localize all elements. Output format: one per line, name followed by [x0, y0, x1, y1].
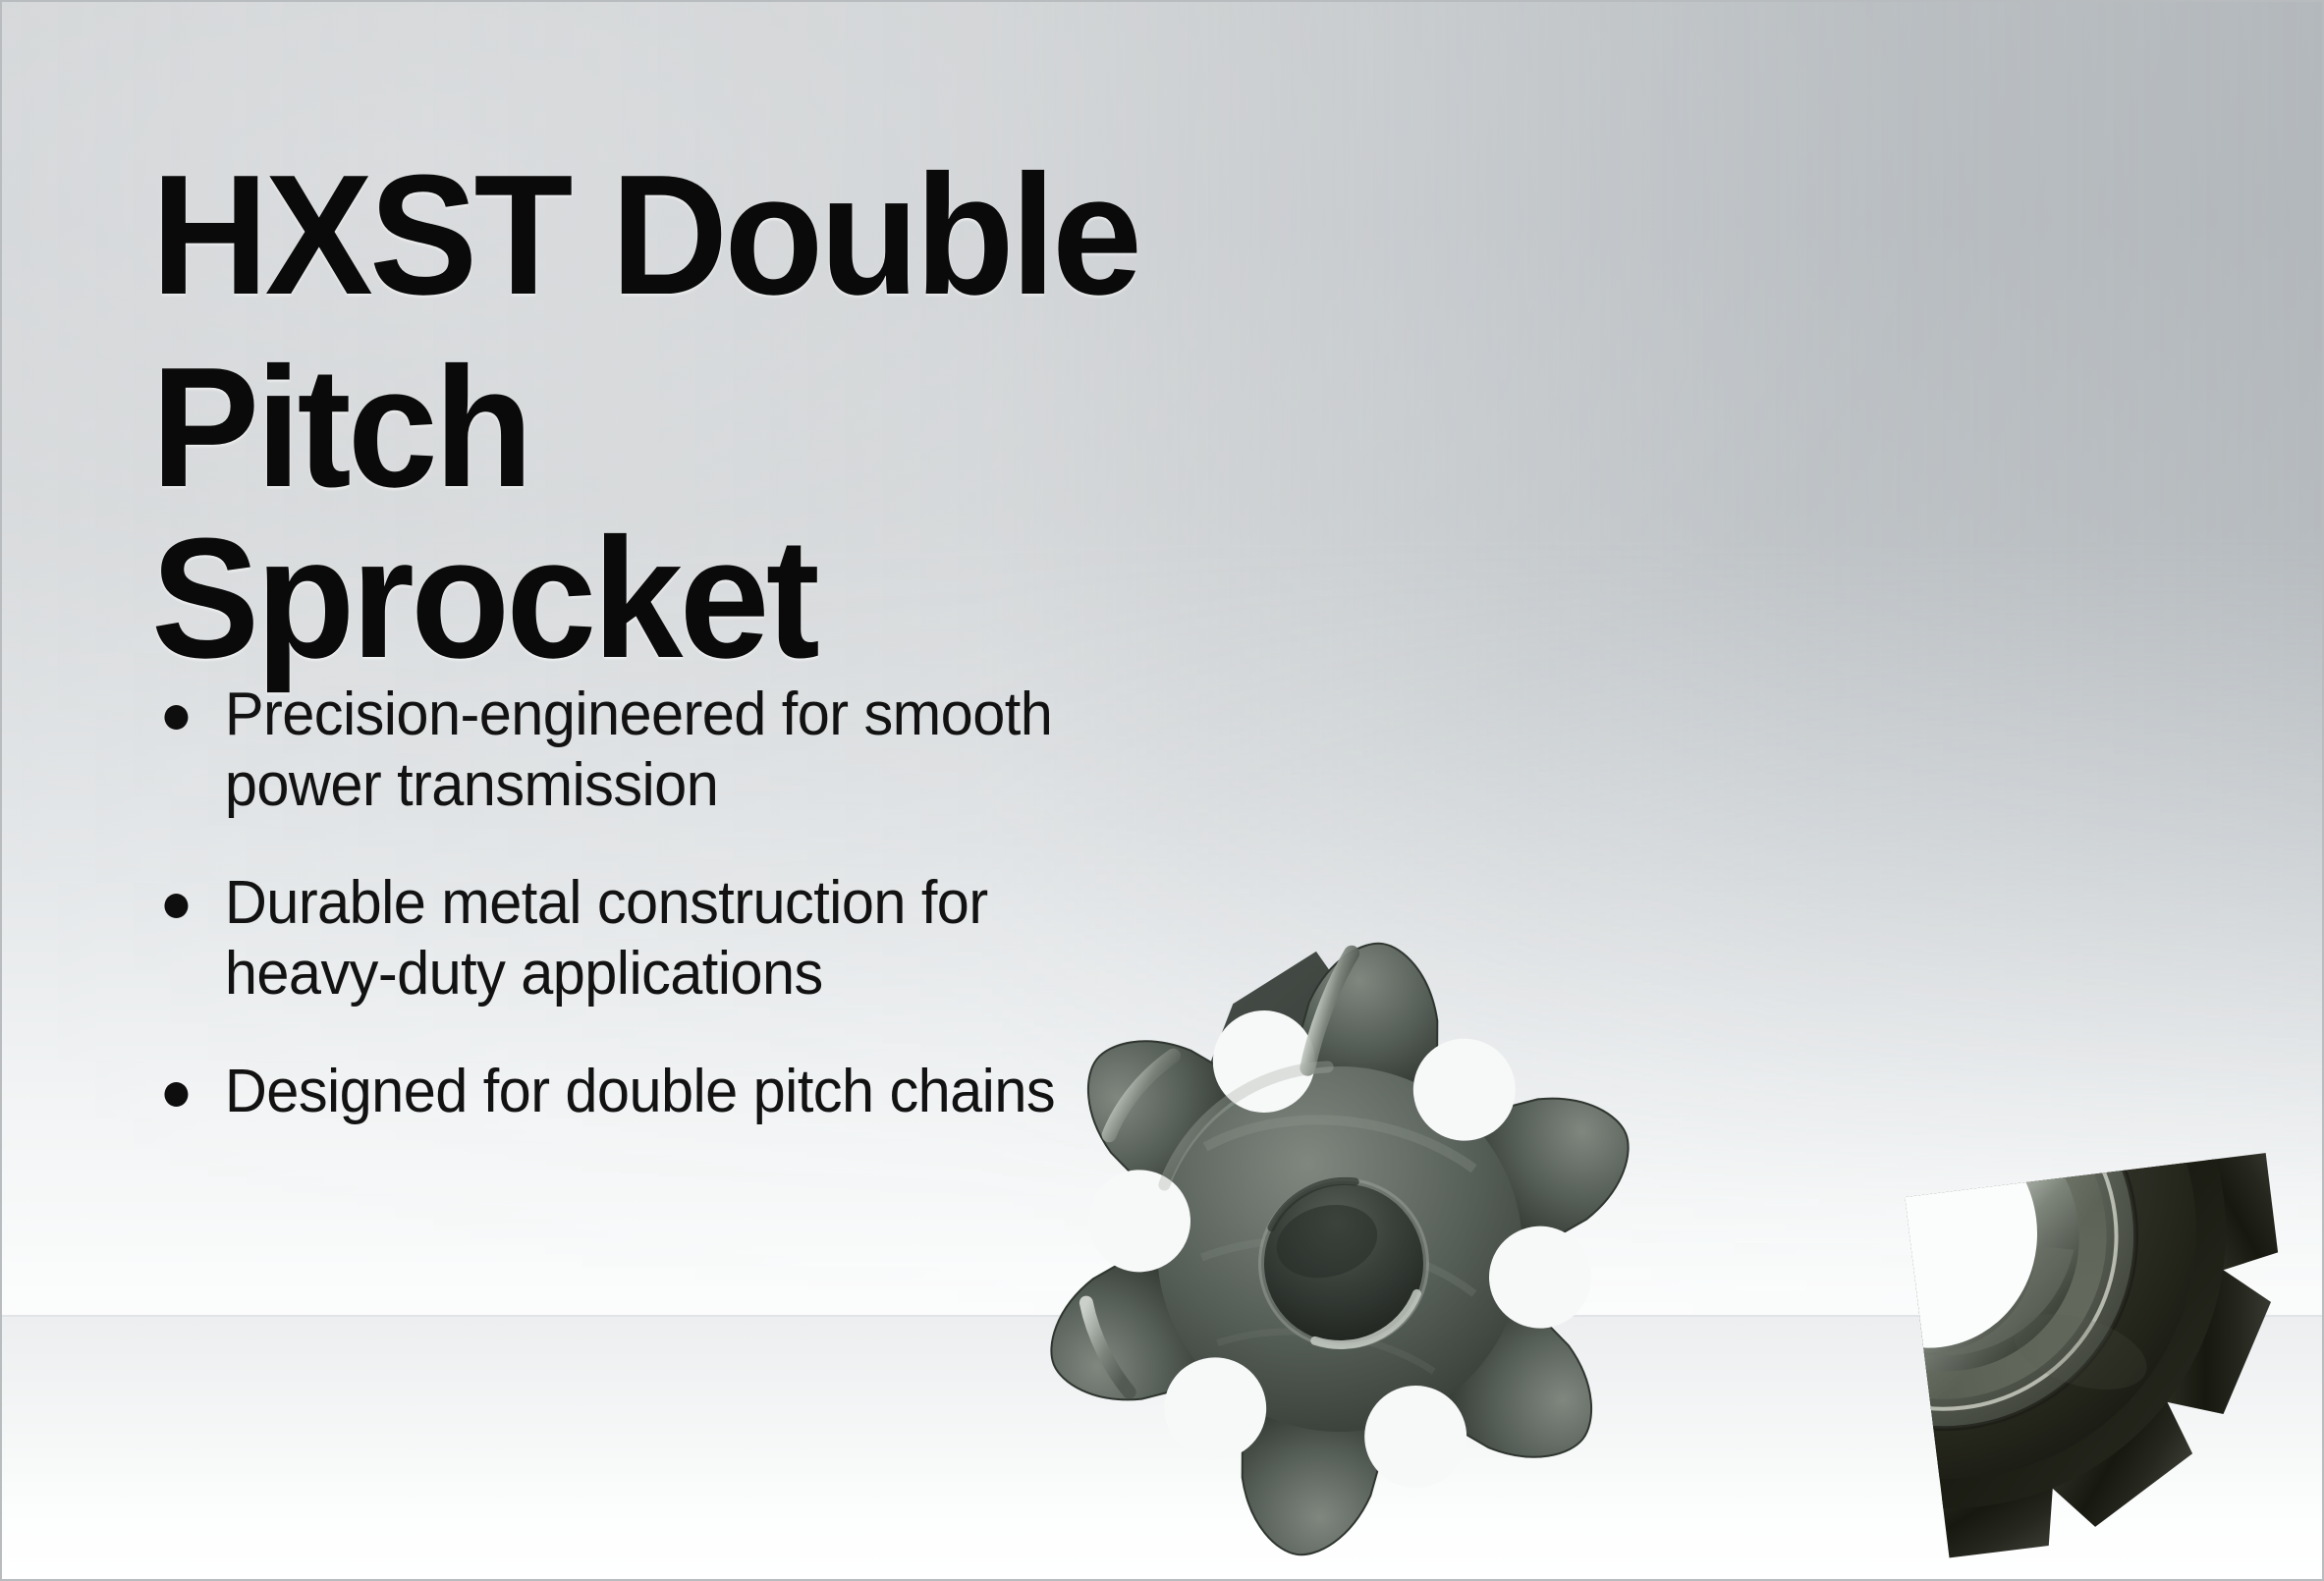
- page-title-line-1: HXST Double: [151, 149, 1196, 320]
- bullet-dot-icon: [164, 1082, 188, 1107]
- feature-text: Precision-engineered for smooth power tr…: [225, 680, 1113, 821]
- product-banner: HXST Double Pitch Sprocket Precision-eng…: [0, 0, 2324, 1581]
- list-item: Precision-engineered for smooth power tr…: [151, 680, 1113, 821]
- bullet-dot-icon: [164, 705, 188, 730]
- page-title: HXST Double Pitch Sprocket: [151, 149, 1196, 683]
- feature-text: Durable metal construction for heavy-dut…: [225, 868, 1113, 1009]
- list-item: Durable metal construction for heavy-dut…: [151, 868, 1113, 1009]
- text-column: HXST Double Pitch Sprocket Precision-eng…: [2, 2, 1259, 1579]
- feature-text: Designed for double pitch chains: [225, 1057, 1113, 1127]
- black-oxide-sprocket-image: [1603, 915, 2324, 1581]
- list-item: Designed for double pitch chains: [151, 1057, 1113, 1127]
- feature-list: Precision-engineered for smooth power tr…: [151, 680, 1153, 1127]
- page-title-line-2: Pitch Sprocket: [151, 342, 1196, 683]
- bullet-dot-icon: [164, 894, 188, 918]
